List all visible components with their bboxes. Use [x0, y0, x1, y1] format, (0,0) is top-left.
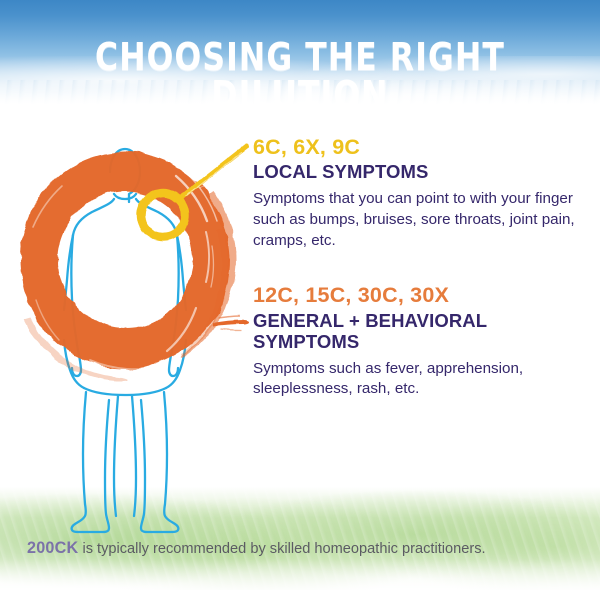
footnote-dilution-label: 200CK — [27, 539, 78, 557]
dose-label-general: 12C, 15C, 30C, 30X — [253, 284, 583, 307]
infographic-poster: CHOOSING THE RIGHT DILUTION — [0, 0, 600, 600]
footnote: 200CK is typically recommended by skille… — [27, 538, 583, 558]
section-heading-local: LOCAL SYMPTOMS — [253, 161, 583, 182]
dose-label-local: 6C, 6X, 9C — [253, 136, 583, 159]
symptom-sections: 6C, 6X, 9C LOCAL SYMPTOMS Symptoms that … — [253, 136, 583, 400]
section-heading-general: GENERAL + BEHAVIORAL SYMPTOMS — [253, 310, 583, 352]
section-body-local: Symptoms that you can point to with your… — [253, 189, 583, 251]
section-general-behavioral-symptoms: 12C, 15C, 30C, 30X GENERAL + BEHAVIORAL … — [253, 284, 583, 400]
footnote-text: is typically recommended by skilled home… — [78, 541, 485, 557]
section-body-general: Symptoms such as fever, apprehension, sl… — [253, 359, 583, 400]
section-local-symptoms: 6C, 6X, 9C LOCAL SYMPTOMS Symptoms that … — [253, 136, 583, 251]
orange-brush-ring — [20, 152, 236, 381]
